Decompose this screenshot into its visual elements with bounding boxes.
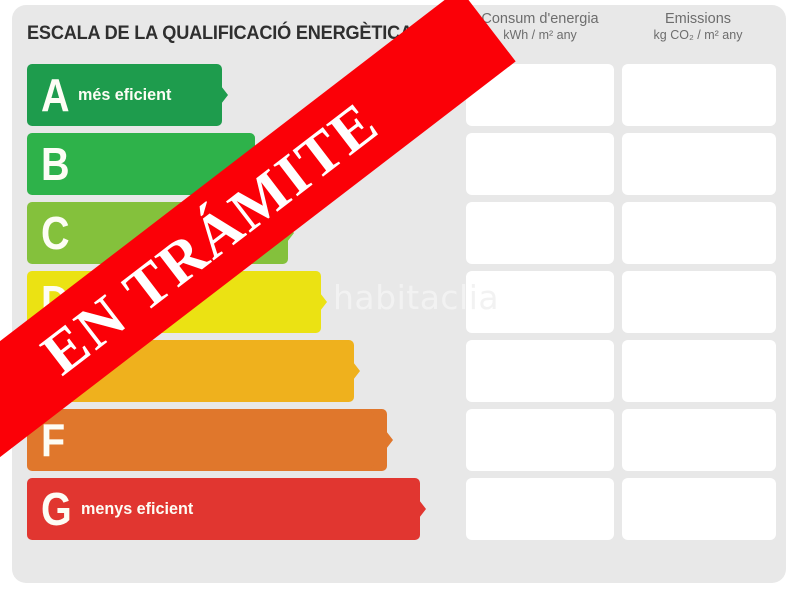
page-title: ESCALA DE LA QUALIFICACIÓ ENERGÈTICA (27, 22, 413, 45)
emissions-value-cell (622, 64, 776, 126)
rating-bar-arrow-icon (204, 64, 240, 126)
rating-letter-c: C (41, 210, 70, 256)
rating-letter-b: B (41, 141, 70, 187)
column-header-emissions-sub: kg CO₂ / m² any (620, 28, 776, 44)
energy-rating-screenshot: ESCALA DE LA QUALIFICACIÓ ENERGÈTICA Con… (0, 0, 798, 600)
consum-value-cell (466, 478, 614, 540)
consum-value-cell (466, 340, 614, 402)
rating-letter-a: A (41, 72, 70, 118)
rating-row: F (0, 409, 798, 471)
consum-value-cell (466, 409, 614, 471)
rating-row: Gmenys eficient (0, 478, 798, 540)
rating-bar-arrow-icon (369, 409, 405, 471)
rating-caption-a: més eficient (78, 85, 171, 105)
column-header-emissions: Emissions kg CO₂ / m² any (620, 10, 776, 44)
emissions-value-cell (622, 340, 776, 402)
emissions-value-cell (622, 409, 776, 471)
rating-caption-g: menys eficient (81, 499, 193, 519)
consum-value-cell (466, 133, 614, 195)
rating-bar-arrow-icon (402, 478, 438, 540)
rating-bar-a: Amés eficient (27, 64, 222, 126)
consum-value-cell (466, 202, 614, 264)
emissions-value-cell (622, 133, 776, 195)
emissions-value-cell (622, 202, 776, 264)
rating-bar-arrow-icon (303, 271, 339, 333)
rating-bar-arrow-icon (336, 340, 372, 402)
rating-letter-g: G (41, 486, 72, 532)
rating-letter-f: F (41, 417, 65, 463)
consum-value-cell (466, 271, 614, 333)
emissions-value-cell (622, 478, 776, 540)
emissions-value-cell (622, 271, 776, 333)
rating-bar-g: Gmenys eficient (27, 478, 420, 540)
rating-bar-f: F (27, 409, 387, 471)
column-header-emissions-main: Emissions (620, 10, 776, 28)
